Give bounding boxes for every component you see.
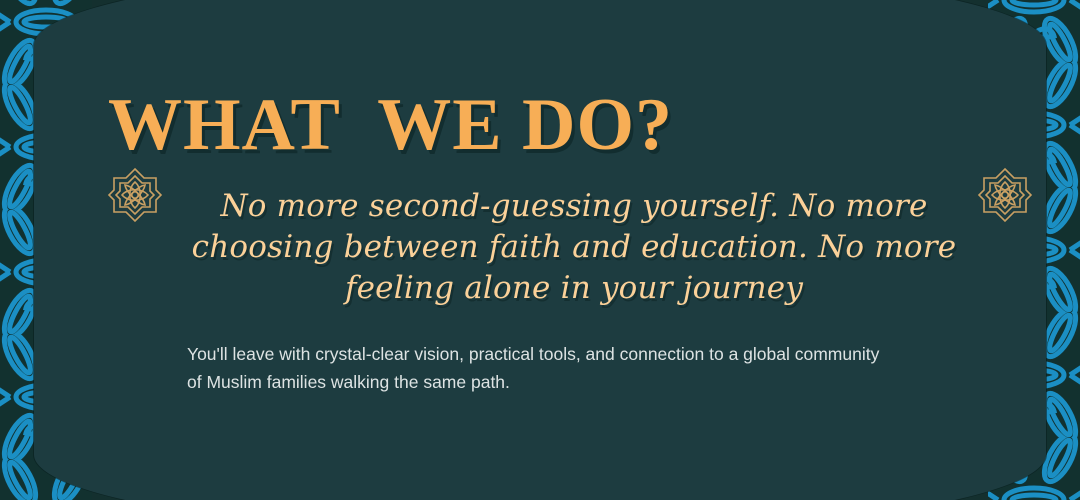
slide-canvas: WHAT WE DO? [0, 0, 1080, 500]
body-paragraph: You'll leave with crystal-clear vision, … [187, 340, 887, 396]
islamic-star-ornament-left [104, 164, 166, 226]
page-title: WHAT WE DO? [108, 88, 673, 162]
content-panel: WHAT WE DO? [34, 0, 1046, 500]
subheadline: No more second-guessing yourself. No mor… [174, 186, 974, 309]
content-panel-inner: WHAT WE DO? [34, 0, 1046, 500]
islamic-star-ornament-right [974, 164, 1036, 226]
